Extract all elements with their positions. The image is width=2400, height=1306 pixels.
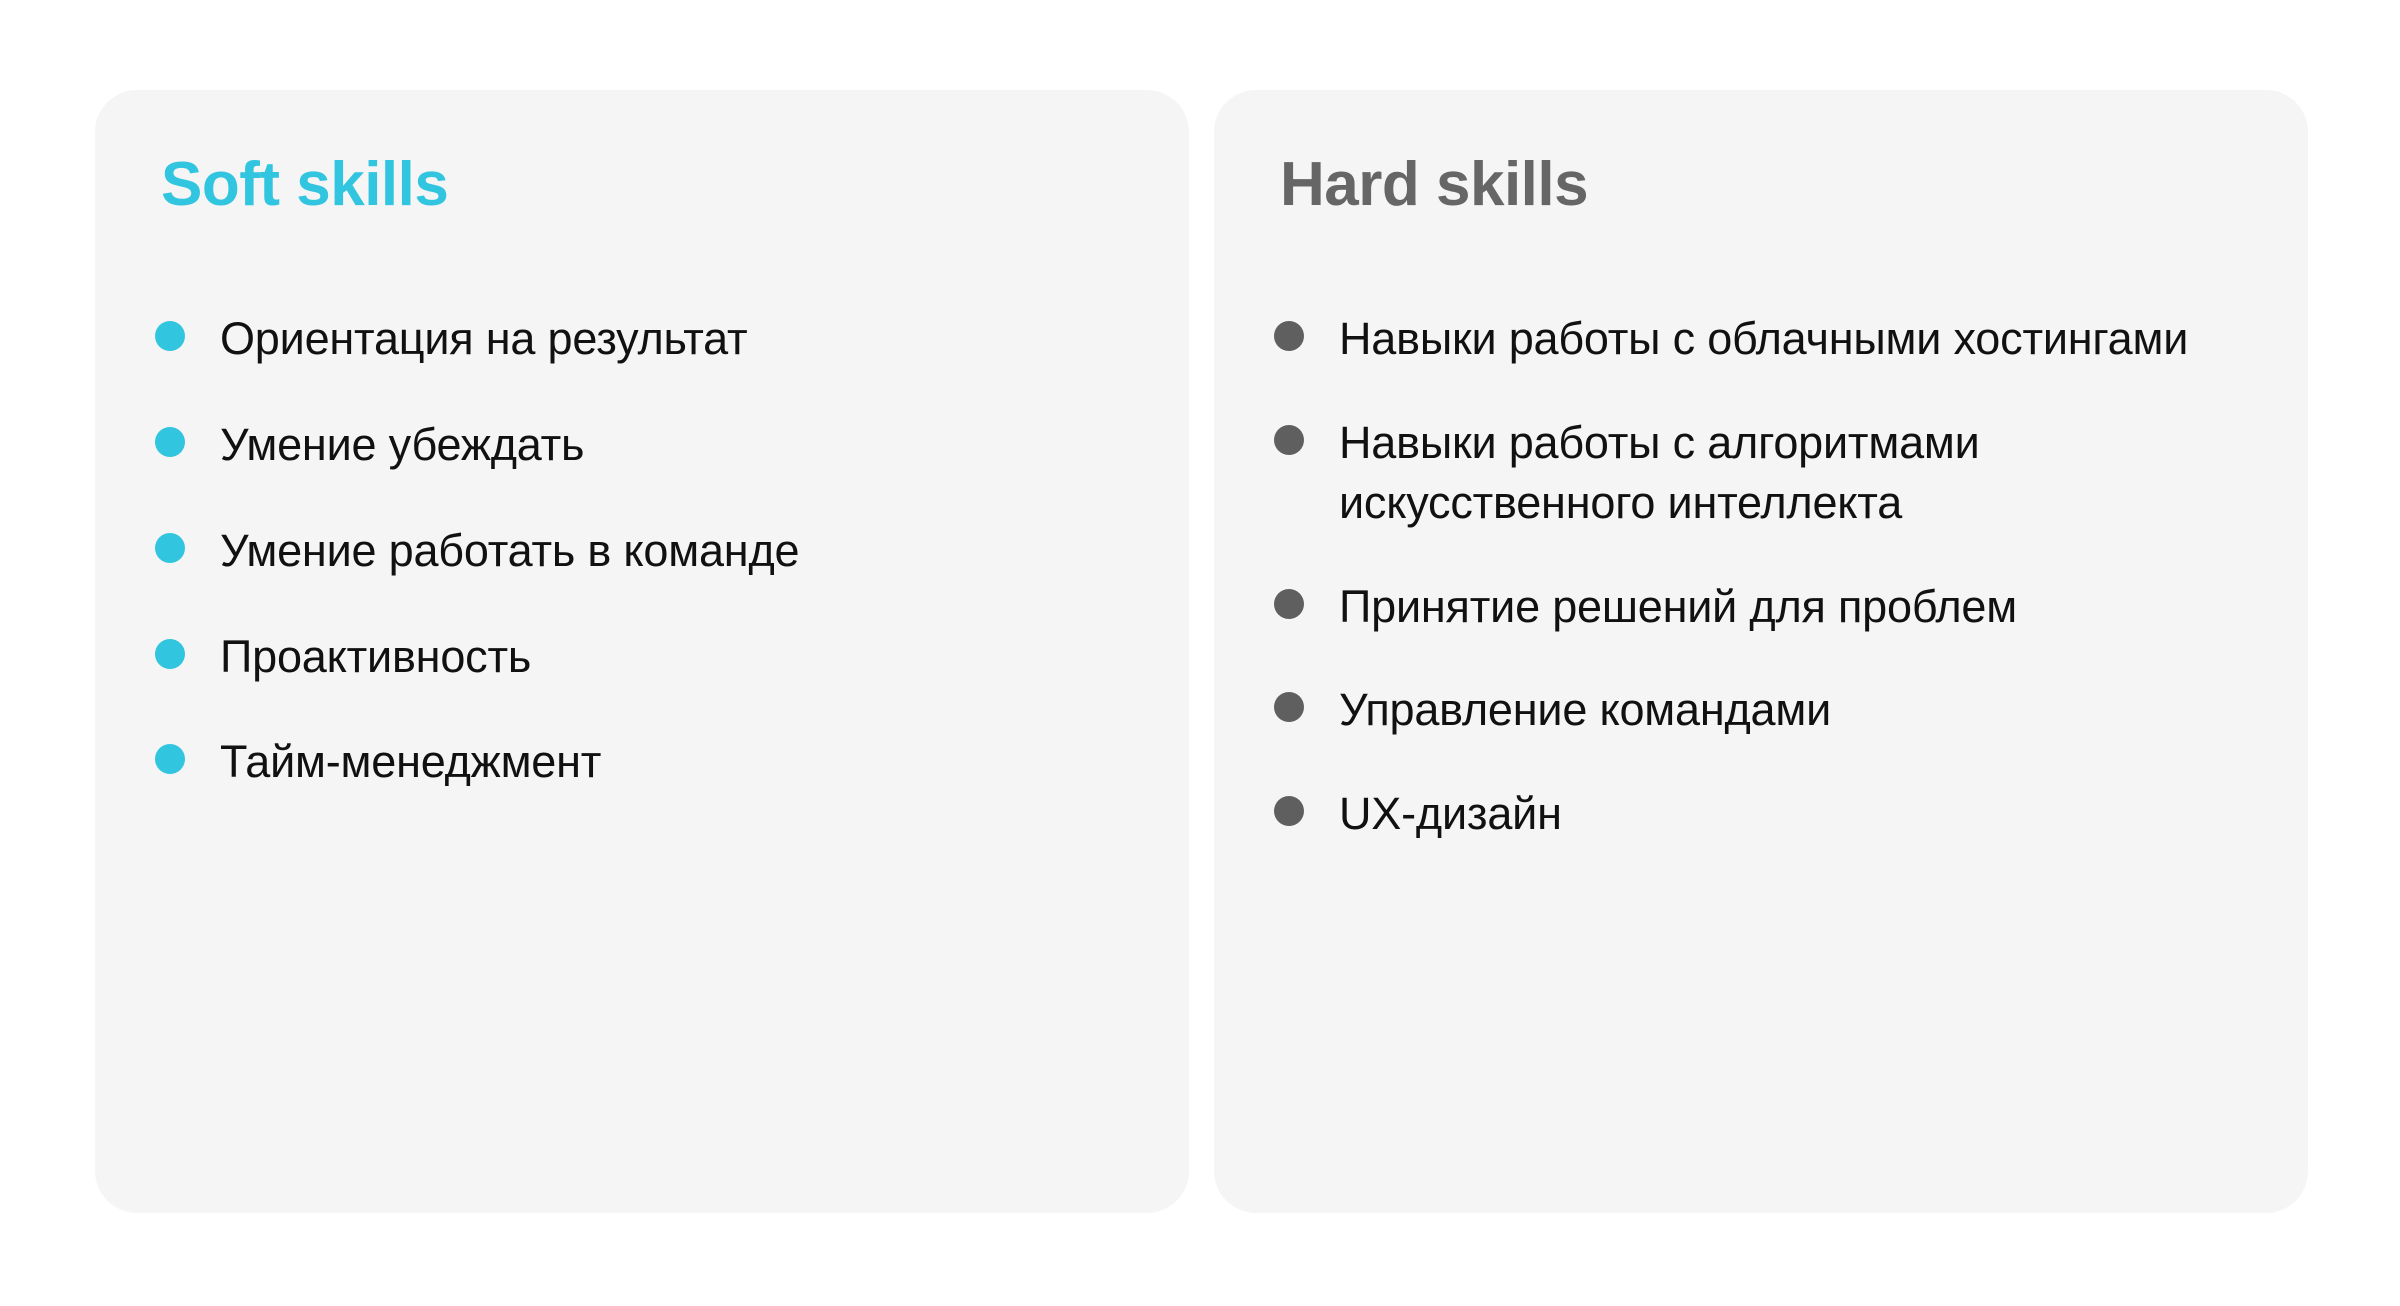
skill-label: Ориентация на результат (220, 309, 747, 369)
skill-label: Умение убеждать (220, 415, 584, 475)
bullet-dot-icon (155, 427, 185, 457)
bullet-dot-icon (1274, 796, 1304, 826)
bullet-dot-icon (1274, 692, 1304, 722)
soft-skills-list: Ориентация на результат Умение убеждать … (155, 309, 1129, 792)
skill-label: Принятие решений для проблем (1339, 577, 2017, 637)
skill-label: Умение работать в команде (220, 521, 799, 581)
list-item: Проактивность (155, 627, 1129, 687)
skill-label: Проактивность (220, 627, 531, 687)
bullet-dot-icon (1274, 425, 1304, 455)
bullet-dot-icon (1274, 321, 1304, 351)
skill-label: UX-дизайн (1339, 784, 1562, 844)
list-item: Умение убеждать (155, 415, 1129, 475)
list-item: Управление командами (1274, 680, 2248, 740)
list-item: Тайм-менеджмент (155, 732, 1129, 792)
soft-skills-title: Soft skills (161, 152, 1129, 217)
skill-label: Управление командами (1339, 680, 1831, 740)
skill-label: Тайм-менеджмент (220, 732, 601, 792)
hard-skills-card: Hard skills Навыки работы с облачными хо… (1214, 90, 2308, 1213)
list-item: Навыки работы с облачными хостингами (1274, 309, 2248, 369)
list-item: Навыки работы с алгоритмами искусственно… (1274, 413, 2248, 533)
list-item: Принятие решений для проблем (1274, 577, 2248, 637)
skills-comparison-board: Soft skills Ориентация на результат Умен… (0, 0, 2400, 1306)
skill-label: Навыки работы с алгоритмами искусственно… (1339, 413, 2244, 533)
hard-skills-list: Навыки работы с облачными хостингами Нав… (1274, 309, 2248, 844)
bullet-dot-icon (155, 744, 185, 774)
skill-label: Навыки работы с облачными хостингами (1339, 309, 2188, 369)
soft-skills-card: Soft skills Ориентация на результат Умен… (95, 90, 1189, 1213)
bullet-dot-icon (155, 533, 185, 563)
bullet-dot-icon (1274, 589, 1304, 619)
bullet-dot-icon (155, 639, 185, 669)
hard-skills-title: Hard skills (1280, 152, 2248, 217)
list-item: Ориентация на результат (155, 309, 1129, 369)
list-item: Умение работать в команде (155, 521, 1129, 581)
bullet-dot-icon (155, 321, 185, 351)
list-item: UX-дизайн (1274, 784, 2248, 844)
